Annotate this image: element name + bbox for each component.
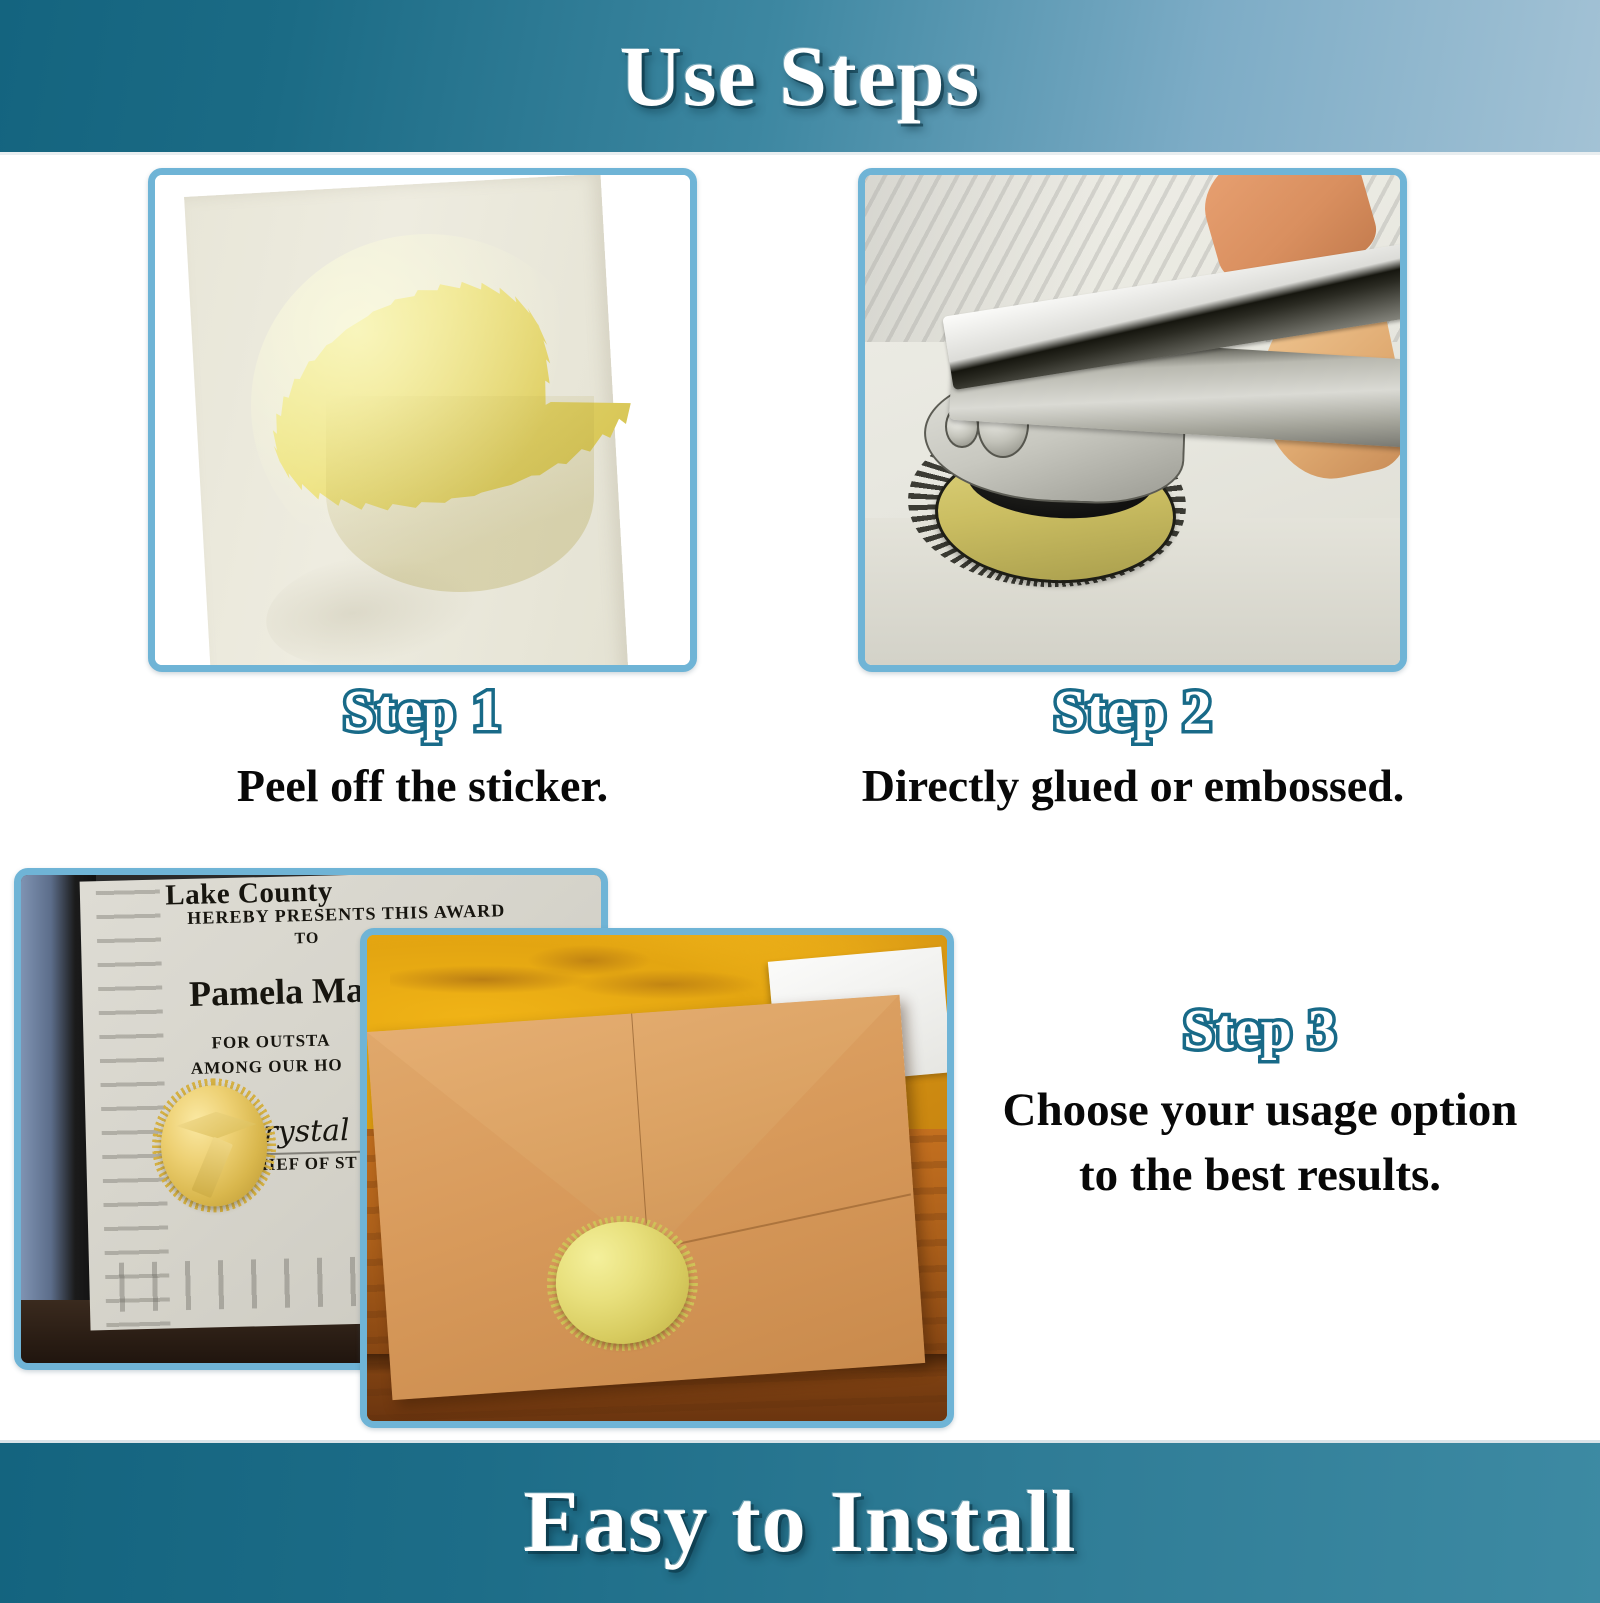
step-3-description-line-2: to the best results. bbox=[960, 1145, 1560, 1205]
step-3-description-line-1: Choose your usage option bbox=[960, 1080, 1560, 1140]
step-1-description: Peel off the sticker. bbox=[148, 757, 697, 816]
envelope-photo bbox=[367, 935, 947, 1421]
kraft-envelope bbox=[367, 995, 924, 1401]
page-title: Use Steps bbox=[620, 33, 980, 119]
sheet-emboss-mark bbox=[259, 539, 490, 665]
certificate-reason-line-2: AMONG OUR HO bbox=[190, 1055, 342, 1079]
embosser-photo bbox=[865, 175, 1400, 665]
footer-banner: Easy to Install bbox=[0, 1440, 1600, 1603]
step-3-label: Step 3 bbox=[960, 1000, 1560, 1060]
step-2-description: Directly glued or embossed. bbox=[838, 757, 1428, 816]
step-1-photo-panel bbox=[148, 168, 697, 672]
certificate-reason-line-1: FOR OUTSTA bbox=[211, 1030, 330, 1053]
step-2-label: Step 2 bbox=[838, 680, 1428, 743]
header-banner: Use Steps bbox=[0, 0, 1600, 155]
footer-title: Easy to Install bbox=[524, 1479, 1077, 1567]
certificate-to-label: TO bbox=[294, 930, 319, 949]
certificate-recipient-name: Pamela Ma bbox=[188, 969, 364, 1015]
step-2-caption: Step 2 Directly glued or embossed. bbox=[838, 680, 1428, 816]
step-1-label: Step 1 bbox=[148, 680, 697, 743]
step-3-caption: Step 3 Choose your usage option to the b… bbox=[960, 1000, 1560, 1205]
step-3-envelope-panel bbox=[360, 928, 954, 1428]
step-2-photo-panel bbox=[858, 168, 1407, 672]
step-1-caption: Step 1 Peel off the sticker. bbox=[148, 680, 697, 816]
yellow-background-shapes bbox=[390, 941, 773, 1010]
seal-peel-photo bbox=[155, 175, 690, 665]
